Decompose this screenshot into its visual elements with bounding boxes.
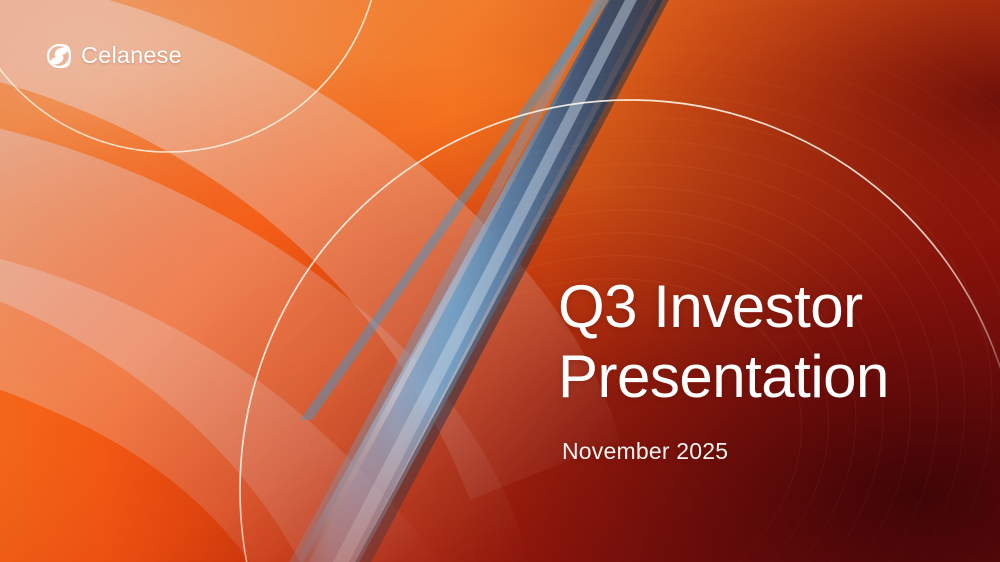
celanese-swirl-mark: [46, 43, 72, 69]
celanese-wordmark: Celanese: [81, 44, 182, 68]
title-block: Q3 Investor Presentation November 2025: [558, 272, 968, 465]
presentation-date: November 2025: [562, 438, 968, 465]
celanese-logo: Celanese: [46, 43, 182, 69]
title-slide: Celanese Q3 Investor Presentation Novemb…: [0, 0, 1000, 562]
page-title: Q3 Investor Presentation: [558, 272, 968, 412]
